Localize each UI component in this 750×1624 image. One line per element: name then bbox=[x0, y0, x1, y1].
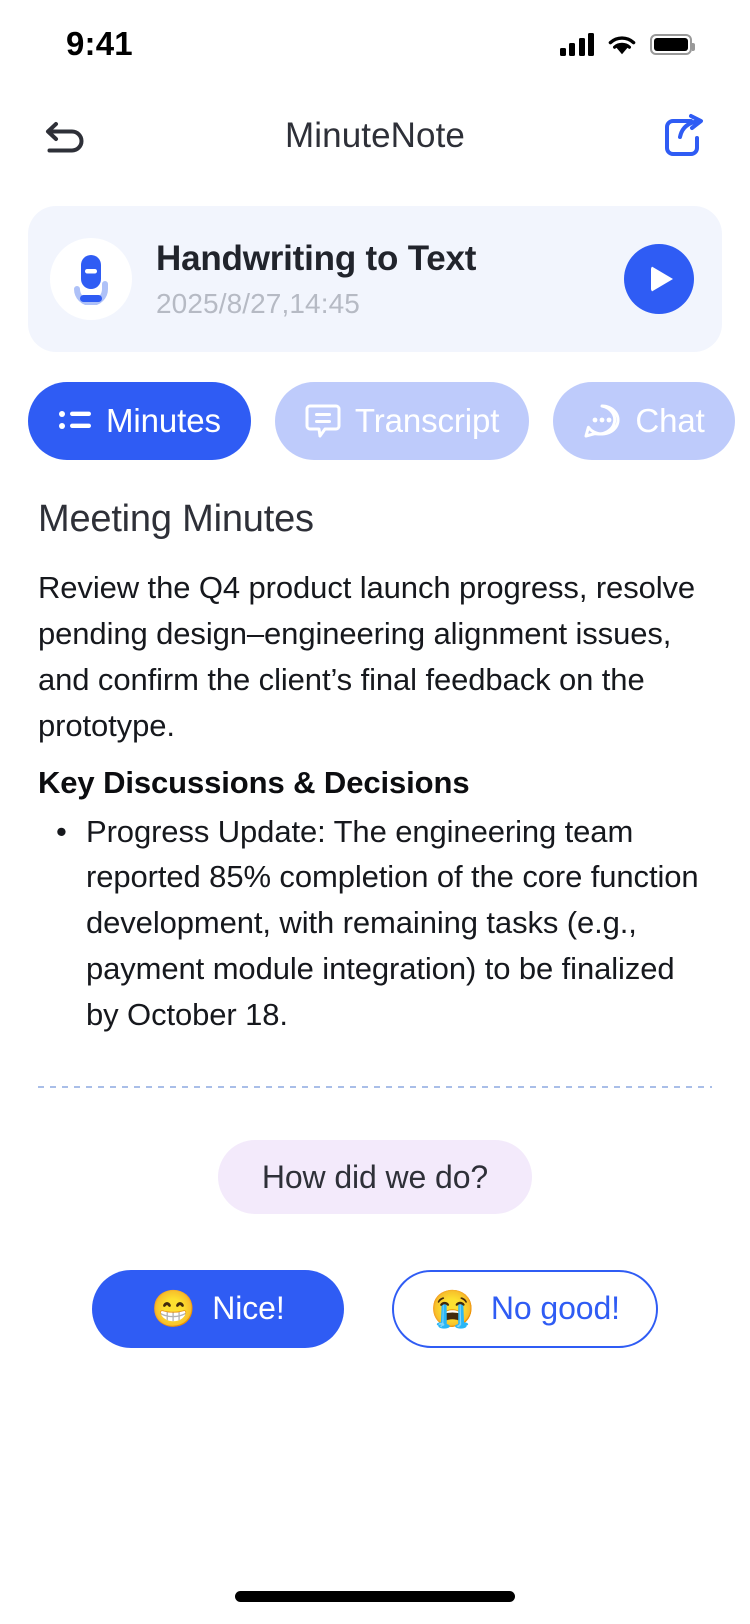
tab-transcript-label: Transcript bbox=[355, 402, 499, 440]
minutes-heading: Meeting Minutes bbox=[38, 498, 712, 541]
minutes-section-heading: Key Discussions & Decisions bbox=[38, 765, 712, 801]
status-bar-time: 9:41 bbox=[66, 25, 133, 63]
tab-chat[interactable]: Chat bbox=[553, 382, 734, 460]
home-indicator bbox=[235, 1591, 515, 1602]
minutes-bullet-list: Progress Update: The engineering team re… bbox=[38, 809, 712, 1038]
share-button[interactable] bbox=[658, 110, 710, 162]
recording-info: Handwriting to Text 2025/8/27,14:45 bbox=[156, 238, 624, 320]
battery-full-icon bbox=[650, 34, 692, 55]
play-icon bbox=[651, 266, 673, 292]
feedback-nice-label: Nice! bbox=[212, 1290, 284, 1327]
minutes-intro: Review the Q4 product launch progress, r… bbox=[38, 565, 712, 749]
status-bar-icons bbox=[560, 33, 693, 56]
crying-face-icon: 😭 bbox=[430, 1291, 475, 1327]
feedback-no-good-label: No good! bbox=[491, 1290, 620, 1327]
tab-transcript[interactable]: Transcript bbox=[275, 382, 529, 460]
share-export-icon bbox=[658, 110, 710, 162]
mic-avatar bbox=[50, 238, 132, 320]
cellular-signal-icon bbox=[560, 33, 595, 56]
undo-back-icon bbox=[42, 114, 92, 158]
document-lines-icon bbox=[305, 402, 341, 440]
tab-minutes[interactable]: Minutes bbox=[28, 382, 251, 460]
status-bar: 9:41 bbox=[0, 0, 750, 88]
feedback-buttons: 😁 Nice! 😭 No good! bbox=[0, 1270, 750, 1348]
minutes-content: Meeting Minutes Review the Q4 product la… bbox=[0, 460, 750, 1038]
microphone-icon bbox=[68, 253, 114, 305]
wifi-icon bbox=[607, 33, 637, 56]
feedback-nice-button[interactable]: 😁 Nice! bbox=[92, 1270, 344, 1348]
app-header: MinuteNote bbox=[0, 88, 750, 184]
tab-bar: Minutes Transcript Chat bbox=[0, 352, 750, 460]
feedback-no-good-button[interactable]: 😭 No good! bbox=[392, 1270, 658, 1348]
list-item: Progress Update: The engineering team re… bbox=[86, 809, 712, 1038]
feedback-section: How did we do? 😁 Nice! 😭 No good! bbox=[0, 1088, 750, 1348]
grinning-face-icon: 😁 bbox=[151, 1291, 196, 1327]
list-icon bbox=[58, 406, 92, 436]
tab-minutes-label: Minutes bbox=[106, 402, 221, 440]
recording-card[interactable]: Handwriting to Text 2025/8/27,14:45 bbox=[28, 206, 722, 352]
recording-title: Handwriting to Text bbox=[156, 238, 624, 279]
feedback-prompt: How did we do? bbox=[218, 1140, 532, 1214]
tab-chat-label: Chat bbox=[635, 402, 704, 440]
app-screen: 9:41 MinuteNote bbox=[0, 0, 750, 1624]
page-title: MinuteNote bbox=[285, 116, 465, 156]
play-button[interactable] bbox=[624, 244, 694, 314]
chat-bubble-dots-icon bbox=[583, 403, 621, 439]
back-button[interactable] bbox=[42, 114, 92, 158]
recording-date: 2025/8/27,14:45 bbox=[156, 288, 624, 320]
